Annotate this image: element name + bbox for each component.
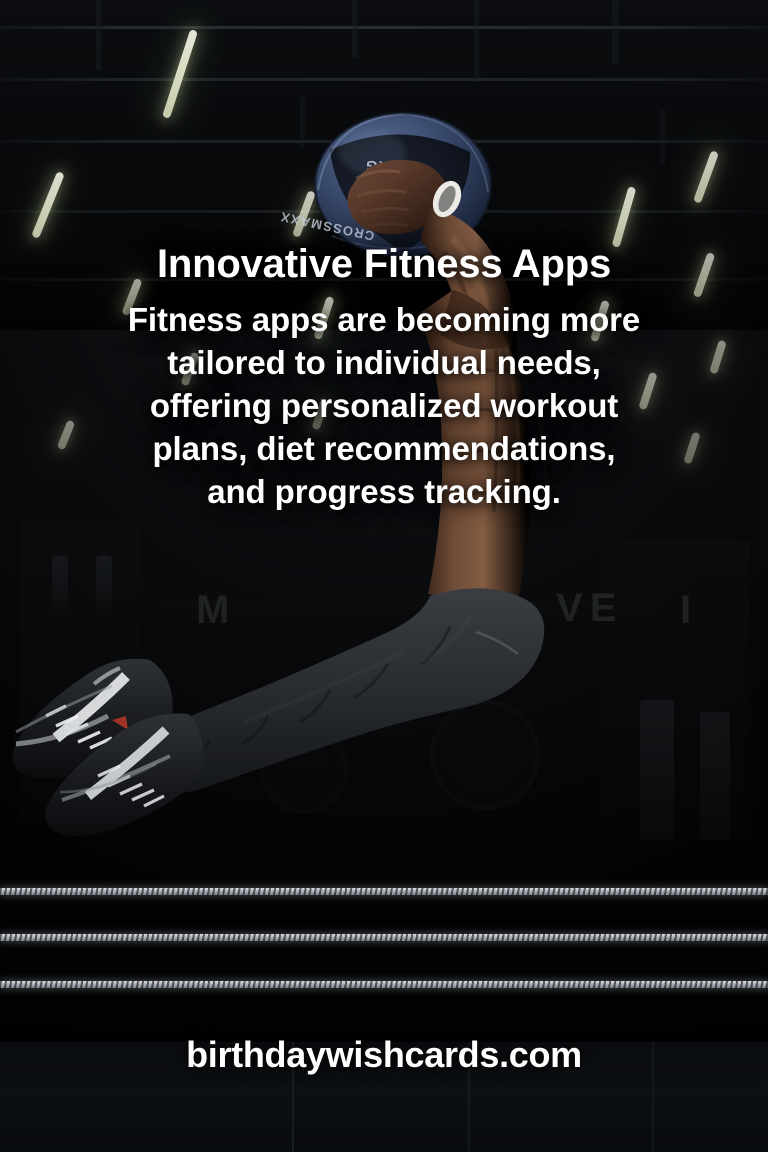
text-overlay: Innovative Fitness Apps Fitness apps are… (0, 243, 768, 514)
step-riser (0, 988, 768, 1027)
step-riser (0, 895, 768, 934)
card-title: Innovative Fitness Apps (34, 243, 734, 286)
footer-website: birthdaywishcards.com (0, 1034, 768, 1076)
card-body-line: plans, diet recommendations, (34, 428, 734, 471)
fitness-quote-card: MVEI (0, 0, 768, 1152)
athlete-shoes (13, 659, 204, 836)
card-body-line: tailored to individual needs, (34, 342, 734, 385)
card-body-line: Fitness apps are becoming more (34, 299, 734, 342)
card-body: Fitness apps are becoming moretailored t… (34, 299, 734, 513)
step-tread (0, 888, 768, 895)
step-tread (0, 934, 768, 941)
card-body-line: offering personalized workout (34, 385, 734, 428)
step-riser (0, 941, 768, 980)
card-body-line: and progress tracking. (34, 471, 734, 514)
step-tread (0, 981, 768, 988)
